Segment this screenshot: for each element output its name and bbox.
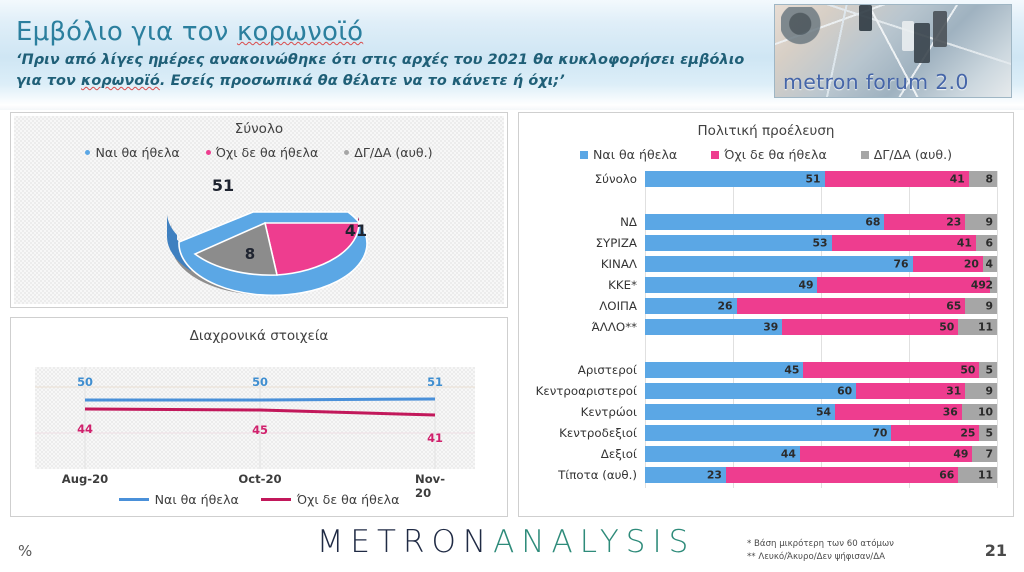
bar-row: Κεντρώοι543610 [529, 404, 1005, 420]
bar-row-track: 53416 [645, 235, 997, 251]
pie-chart-graphic: 51 41 8 [19, 151, 501, 303]
pie-svg: 51 41 8 [19, 151, 501, 303]
bar-segment-no: 31 [856, 383, 965, 399]
bar-segment-no: 36 [835, 404, 962, 420]
bar-segment-value: 54 [816, 406, 831, 419]
bar-row-track: 76204 [645, 256, 997, 272]
trend-plot-background: 50 50 51 44 45 41 [35, 367, 475, 469]
bar-segment-no: 66 [726, 467, 958, 483]
bar-row-label: ΚΙΝΑΛ [529, 256, 637, 272]
bar-row-label: ΆΛΛΟ** [529, 319, 637, 335]
trend-value-yes: 50 [252, 375, 268, 389]
logo-figure-silhouette [902, 21, 914, 51]
bar-row-label: Δεξιοί [529, 446, 637, 462]
slide-root: Εμβόλιο για τον κορωνοϊό ‘Πριν από λίγες… [0, 0, 1024, 572]
bar-segment-no: 50 [803, 362, 979, 378]
pie-chart-title: Σύνολο [11, 121, 507, 137]
bar-segment-no: 49 [817, 277, 989, 293]
bar-segment-dk: 9 [965, 298, 997, 314]
bar-segment-value: 68 [865, 216, 880, 229]
bar-segment-value: 49 [798, 279, 813, 292]
bar-row-label: Τίποτα (αυθ.) [529, 467, 637, 483]
bar-segment-value: 9 [985, 216, 993, 229]
slide-header: Εμβόλιο για τον κορωνοϊό ‘Πριν από λίγες… [0, 0, 1024, 106]
bar-segment-value: 70 [872, 427, 887, 440]
bar-segment-no: 23 [884, 214, 965, 230]
bar-segment-value: 49 [971, 279, 986, 292]
bar-segment-value: 7 [985, 448, 993, 461]
trend-x-axis: Aug-20 Oct-20 Nov-20 [35, 472, 475, 490]
legend-label-dk: ΔΓ/ΔΑ (αυθ.) [874, 147, 952, 162]
logo-figure-silhouette [933, 11, 947, 47]
bar-segment-no: 65 [737, 298, 966, 314]
bar-segment-yes: 60 [645, 383, 856, 399]
trend-chart-panel: Διαχρονικά στοιχεία 50 50 51 44 45 41 Au… [10, 317, 508, 517]
bar-segment-value: 23 [946, 216, 961, 229]
bar-segment-yes: 54 [645, 404, 835, 420]
legend-item-yes: Ναι θα ήθελα [580, 147, 677, 162]
trend-value-no: 41 [427, 431, 443, 445]
legend-item-dk: ΔΓ/ΔΑ (αυθ.) [861, 147, 952, 162]
bar-segment-dk: 2 [990, 277, 997, 293]
bar-row-label: ΚΚΕ* [529, 277, 637, 293]
bar-segment-value: 8 [985, 173, 993, 186]
bar-segment-value: 50 [960, 364, 975, 377]
bar-row-label: ΛΟΙΠΑ [529, 298, 637, 314]
bar-segment-dk: 9 [965, 383, 997, 399]
bar-segment-value: 50 [939, 321, 954, 334]
bar-segment-no: 25 [891, 425, 979, 441]
bar-segment-value: 26 [717, 300, 732, 313]
legend-label-no: Όχι δε θα ήθελα [724, 147, 827, 162]
percent-symbol: % [18, 542, 32, 560]
bar-row-track: 68239 [645, 214, 997, 230]
logo-text: metron forum 2.0 [783, 70, 1007, 94]
bar-segment-yes: 53 [645, 235, 832, 251]
bar-row-label: ΝΔ [529, 214, 637, 230]
footnotes: * Βάση μικρότερη των 60 ατόμων ** Λευκό/… [747, 538, 894, 564]
bar-segment-value: 23 [707, 469, 722, 482]
bar-segment-dk: 7 [972, 446, 997, 462]
bar-segment-value: 31 [946, 385, 961, 398]
bar-segment-value: 76 [893, 258, 908, 271]
bar-row-track: 60319 [645, 383, 997, 399]
bar-segment-dk: 11 [958, 319, 997, 335]
page-title: Εμβόλιο για τον κορωνοϊό [16, 17, 363, 47]
bar-segment-value: 44 [781, 448, 796, 461]
bar-segment-value: 51 [805, 173, 820, 186]
bar-segment-no: 41 [832, 235, 976, 251]
legend-marker-yes [119, 498, 149, 501]
page-number: 21 [985, 541, 1007, 560]
bar-row-label: Κεντρώοι [529, 404, 637, 420]
bar-segment-dk: 4 [983, 256, 997, 272]
bar-chart-legend: Ναι θα ήθελα Όχι δε θα ήθελα ΔΓ/ΔΑ (αυθ.… [519, 147, 1013, 162]
logo-figure-silhouette [914, 23, 930, 63]
bar-segment-yes: 23 [645, 467, 726, 483]
bar-segment-yes: 39 [645, 319, 782, 335]
bar-segment-value: 11 [978, 321, 993, 334]
bar-segment-value: 4 [985, 258, 993, 271]
page-title-misspelled-word: κορωνοϊό [237, 17, 363, 47]
trend-value-no: 44 [77, 422, 93, 436]
bar-row-track: 236611 [645, 467, 997, 483]
x-tick-label: Aug-20 [62, 472, 108, 486]
bar-segment-value: 9 [985, 385, 993, 398]
bar-segment-value: 10 [978, 406, 993, 419]
bar-row: ΆΛΛΟ**395011 [529, 319, 1005, 335]
bar-segment-dk: 10 [962, 404, 997, 420]
bar-row-track: 26659 [645, 298, 997, 314]
bar-row: Κεντροδεξιοί70255 [529, 425, 1005, 441]
bar-segment-yes: 49 [645, 277, 817, 293]
bar-row: ΛΟΙΠΑ26659 [529, 298, 1005, 314]
bar-segment-yes: 70 [645, 425, 891, 441]
bar-segment-value: 66 [939, 469, 954, 482]
bar-segment-value: 6 [985, 237, 993, 250]
bar-row: Τίποτα (αυθ.)236611 [529, 467, 1005, 483]
bar-segment-yes: 51 [645, 171, 825, 187]
legend-marker-dk [861, 151, 869, 159]
bar-segment-yes: 68 [645, 214, 884, 230]
bar-segment-dk: 11 [958, 467, 997, 483]
bar-chart-rows: Σύνολο51418ΝΔ68239ΣΥΡΙΖΑ53416ΚΙΝΑΛ76204Κ… [529, 171, 1005, 511]
bar-row-track: 543610 [645, 404, 997, 420]
question-text: ‘Πριν από λίγες ημέρες ανακοινώθηκε ότι … [16, 50, 761, 92]
bar-segment-value: 11 [978, 469, 993, 482]
bar-segment-value: 5 [985, 427, 993, 440]
trend-line-yes [85, 399, 435, 400]
bar-row: ΝΔ68239 [529, 214, 1005, 230]
political-origin-panel: Πολιτική προέλευση Ναι θα ήθελα Όχι δε θ… [518, 112, 1014, 517]
bar-segment-value: 45 [784, 364, 799, 377]
bar-row-track: 44497 [645, 446, 997, 462]
bar-row-label: Κεντροδεξιοί [529, 425, 637, 441]
bar-segment-yes: 44 [645, 446, 800, 462]
bar-segment-dk: 6 [976, 235, 997, 251]
bar-row: Δεξιοί44497 [529, 446, 1005, 462]
bar-row-label: Αριστεροί [529, 362, 637, 378]
legend-item-yes: Ναι θα ήθελα [119, 492, 239, 507]
bar-segment-no: 41 [825, 171, 969, 187]
metron-analysis-brand: METRONANALYSIS [296, 524, 716, 560]
bar-segment-value: 39 [763, 321, 778, 334]
bar-segment-value: 41 [950, 173, 965, 186]
bar-row-track: 51418 [645, 171, 997, 187]
brand-metron: METRON [317, 524, 493, 560]
bar-segment-value: 2 [985, 279, 993, 292]
bar-segment-value: 41 [957, 237, 972, 250]
bar-row-label: ΣΥΡΙΖΑ [529, 235, 637, 251]
bar-segment-dk: 9 [965, 214, 997, 230]
logo-figure-silhouette [859, 5, 872, 31]
bar-row-label: Κεντροαριστεροί [529, 383, 637, 399]
legend-item-no: Όχι δε θα ήθελα [261, 492, 400, 507]
trend-chart-legend: Ναι θα ήθελα Όχι δε θα ήθελα [11, 492, 507, 507]
bar-chart-title: Πολιτική προέλευση [519, 123, 1013, 139]
bar-segment-value: 49 [953, 448, 968, 461]
question-text-part2: . Εσείς προσωπικά θα θέλατε να το κάνετε… [160, 73, 565, 89]
pie-value-yes: 51 [212, 176, 234, 195]
bar-segment-dk: 5 [979, 362, 997, 378]
pie-chart-panel: Σύνολο Ναι θα ήθελα Όχι δε θα ήθελα ΔΓ/Δ… [10, 112, 508, 308]
bar-row-track: 395011 [645, 319, 997, 335]
legend-label-no: Όχι δε θα ήθελα [297, 492, 400, 507]
pie-value-dk: 8 [245, 245, 255, 263]
legend-label-yes: Ναι θα ήθελα [593, 147, 677, 162]
bar-segment-dk: 8 [969, 171, 997, 187]
bar-row: ΚΙΝΑΛ76204 [529, 256, 1005, 272]
bar-segment-value: 9 [985, 300, 993, 313]
bar-row: ΚΚΕ*49492 [529, 277, 1005, 293]
bar-segment-value: 25 [960, 427, 975, 440]
bar-segment-no: 50 [782, 319, 958, 335]
bar-row: Σύνολο51418 [529, 171, 1005, 187]
pie-value-no: 41 [345, 221, 367, 240]
bar-segment-value: 36 [943, 406, 958, 419]
bar-row: Κεντροαριστεροί60319 [529, 383, 1005, 399]
bar-segment-value: 20 [964, 258, 979, 271]
bar-segment-value: 60 [837, 385, 852, 398]
bar-row-track: 49492 [645, 277, 997, 293]
bar-row: ΣΥΡΙΖΑ53416 [529, 235, 1005, 251]
trend-value-yes: 50 [77, 375, 93, 389]
legend-item-no: Όχι δε θα ήθελα [711, 147, 827, 162]
bar-segment-value: 65 [946, 300, 961, 313]
legend-marker-yes [580, 151, 588, 159]
bar-segment-yes: 26 [645, 298, 737, 314]
bar-segment-value: 53 [813, 237, 828, 250]
bar-row-track: 45505 [645, 362, 997, 378]
footnote-1: * Βάση μικρότερη των 60 ατόμων [747, 538, 894, 551]
bar-row-track: 70255 [645, 425, 997, 441]
bar-segment-yes: 76 [645, 256, 913, 272]
page-title-text: Εμβόλιο για τον [16, 17, 237, 47]
bar-segment-yes: 45 [645, 362, 803, 378]
legend-marker-no [261, 498, 291, 501]
trend-value-no: 45 [252, 423, 268, 437]
bar-segment-dk: 5 [979, 425, 997, 441]
bar-segment-no: 49 [800, 446, 972, 462]
footnote-2: ** Λευκό/Άκυρο/Δεν ψήφισαν/ΔΑ [747, 551, 894, 564]
x-tick-label: Oct-20 [238, 472, 281, 486]
metron-forum-logo: metron forum 2.0 [774, 4, 1012, 98]
bar-row-label: Σύνολο [529, 171, 637, 187]
bar-row: Αριστεροί45505 [529, 362, 1005, 378]
bar-segment-no: 20 [913, 256, 983, 272]
trend-value-yes: 51 [427, 375, 443, 389]
trend-chart-title: Διαχρονικά στοιχεία [11, 328, 507, 344]
question-misspelled-word: κορωνοϊό [81, 73, 160, 89]
legend-label-yes: Ναι θα ήθελα [155, 492, 239, 507]
bar-segment-value: 5 [985, 364, 993, 377]
legend-marker-no [711, 151, 719, 159]
brand-analysis: ANALYSIS [493, 524, 695, 560]
